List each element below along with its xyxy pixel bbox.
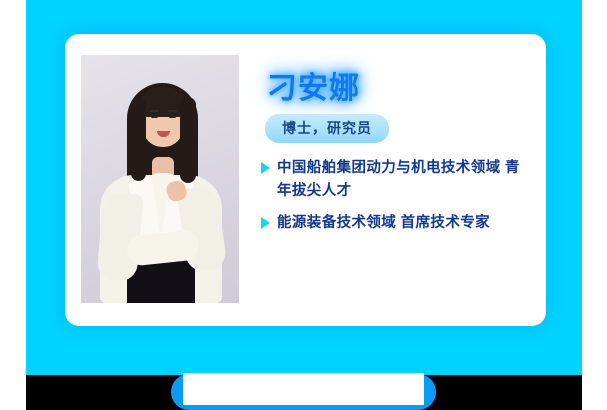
list-item: 能源装备技术领域 首席技术专家 — [261, 212, 533, 235]
triangle-arrow-icon — [261, 162, 270, 174]
portrait-photo — [81, 55, 239, 303]
portrait-artwork — [81, 55, 239, 303]
portrait-brow-right — [168, 110, 177, 112]
poster-stage: 刁安娜 博士，研究员 中国船舶集团动力与机电技术领域 青年拔尖人才 能源装备技术… — [0, 0, 607, 410]
bottom-white-occluder — [183, 373, 424, 405]
triangle-arrow-icon — [261, 217, 270, 229]
achievement-text: 能源装备技术领域 首席技术专家 — [277, 212, 490, 235]
list-item: 中国船舶集团动力与机电技术领域 青年拔尖人才 — [261, 157, 533, 204]
profile-info-column: 刁安娜 博士，研究员 中国船舶集团动力与机电技术领域 青年拔尖人才 能源装备技术… — [261, 64, 533, 243]
person-name: 刁安娜 — [261, 72, 533, 105]
achievement-list: 中国船舶集团动力与机电技术领域 青年拔尖人才 能源装备技术领域 首席技术专家 — [261, 157, 533, 235]
title-badge: 博士，研究员 — [265, 114, 389, 143]
portrait-eye-right — [169, 115, 176, 118]
portrait-hair-right — [180, 97, 196, 183]
profile-card: 刁安娜 博士，研究员 中国船舶集团动力与机电技术领域 青年拔尖人才 能源装备技术… — [65, 34, 546, 326]
portrait-eye-left — [151, 115, 158, 118]
achievement-text: 中国船舶集团动力与机电技术领域 青年拔尖人才 — [277, 157, 533, 204]
portrait-brow-left — [150, 110, 159, 112]
portrait-hair-left — [131, 97, 146, 181]
